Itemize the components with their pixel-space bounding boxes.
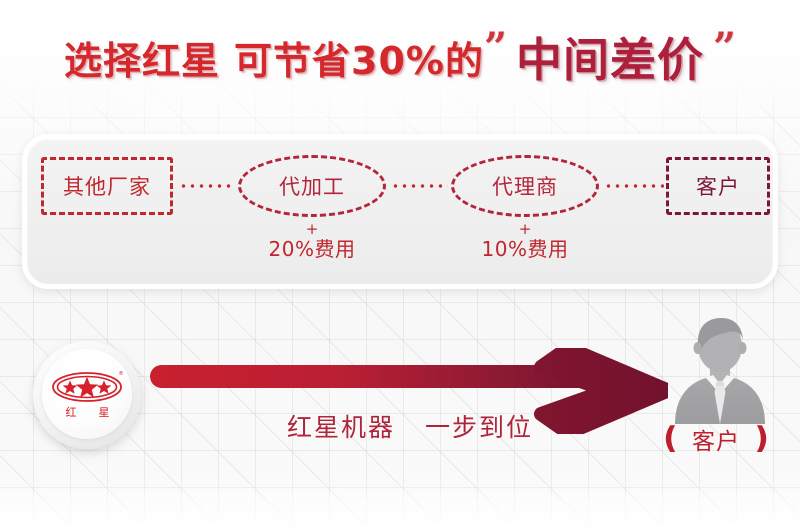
customer-label: ❪ 客户 ❫	[646, 422, 786, 456]
brand-badge: ® 红 星	[33, 341, 145, 453]
quote-open-mark: ”	[484, 24, 507, 71]
chain-node-agent: 代理商	[451, 155, 599, 217]
connector-dotted-3	[604, 184, 664, 188]
supply-chain-card: 其他厂家 代加工 + 20%费用 代理商 + 10%费用 客户	[22, 134, 778, 289]
quote-close-mark: ”	[713, 24, 736, 71]
chain-node-label: 客户	[696, 171, 740, 201]
connector-dotted-2	[391, 184, 448, 188]
headline-emphasis: 中间差价	[507, 24, 713, 90]
svg-text:®: ®	[119, 370, 124, 377]
tagline-part1: 红星机器	[287, 413, 395, 442]
chain-node-label: 代理商	[492, 171, 558, 201]
tagline-part2: 一步到位	[425, 413, 533, 442]
bracket-left-icon: ❪	[658, 424, 683, 454]
fee-amount: 10%费用	[445, 238, 605, 261]
flow-tagline: 红星机器 一步到位	[210, 408, 610, 444]
chain-node-oem: 代加工	[238, 155, 386, 217]
chain-node-label: 代加工	[279, 171, 345, 201]
headline-part1: 选择红星	[64, 30, 220, 85]
bracket-right-icon: ❫	[749, 424, 774, 454]
svg-text:红: 红	[66, 406, 77, 419]
fee-plus-sign: +	[232, 222, 392, 237]
hongxing-logo-icon: ® 红 星	[51, 367, 125, 423]
svg-text:星: 星	[99, 406, 110, 419]
poster-canvas: 选择红星 可节省30%的 ” 中间差价 ” 其他厂家 代加工 + 20%费用 代…	[0, 0, 800, 530]
background-bottom-band	[0, 478, 800, 530]
connector-dotted-1	[179, 184, 235, 188]
fee-amount: 20%费用	[232, 238, 392, 261]
page-title: 选择红星 可节省30%的 ” 中间差价 ”	[0, 24, 800, 90]
chain-node-other-factory: 其他厂家	[41, 157, 173, 215]
fee-plus-sign: +	[445, 222, 605, 237]
customer-label-text: 客户	[692, 422, 740, 456]
businessman-silhouette-icon	[663, 316, 777, 424]
chain-node-label: 其他厂家	[63, 171, 151, 201]
headline-part2: 可节省30%的	[234, 30, 484, 85]
fee-annotation-agent: + 10%费用	[445, 222, 605, 261]
chain-node-customer: 客户	[666, 157, 770, 215]
fee-annotation-oem: + 20%费用	[232, 222, 392, 261]
supply-chain-diagram: 其他厂家 代加工 + 20%费用 代理商 + 10%费用 客户	[27, 139, 773, 284]
